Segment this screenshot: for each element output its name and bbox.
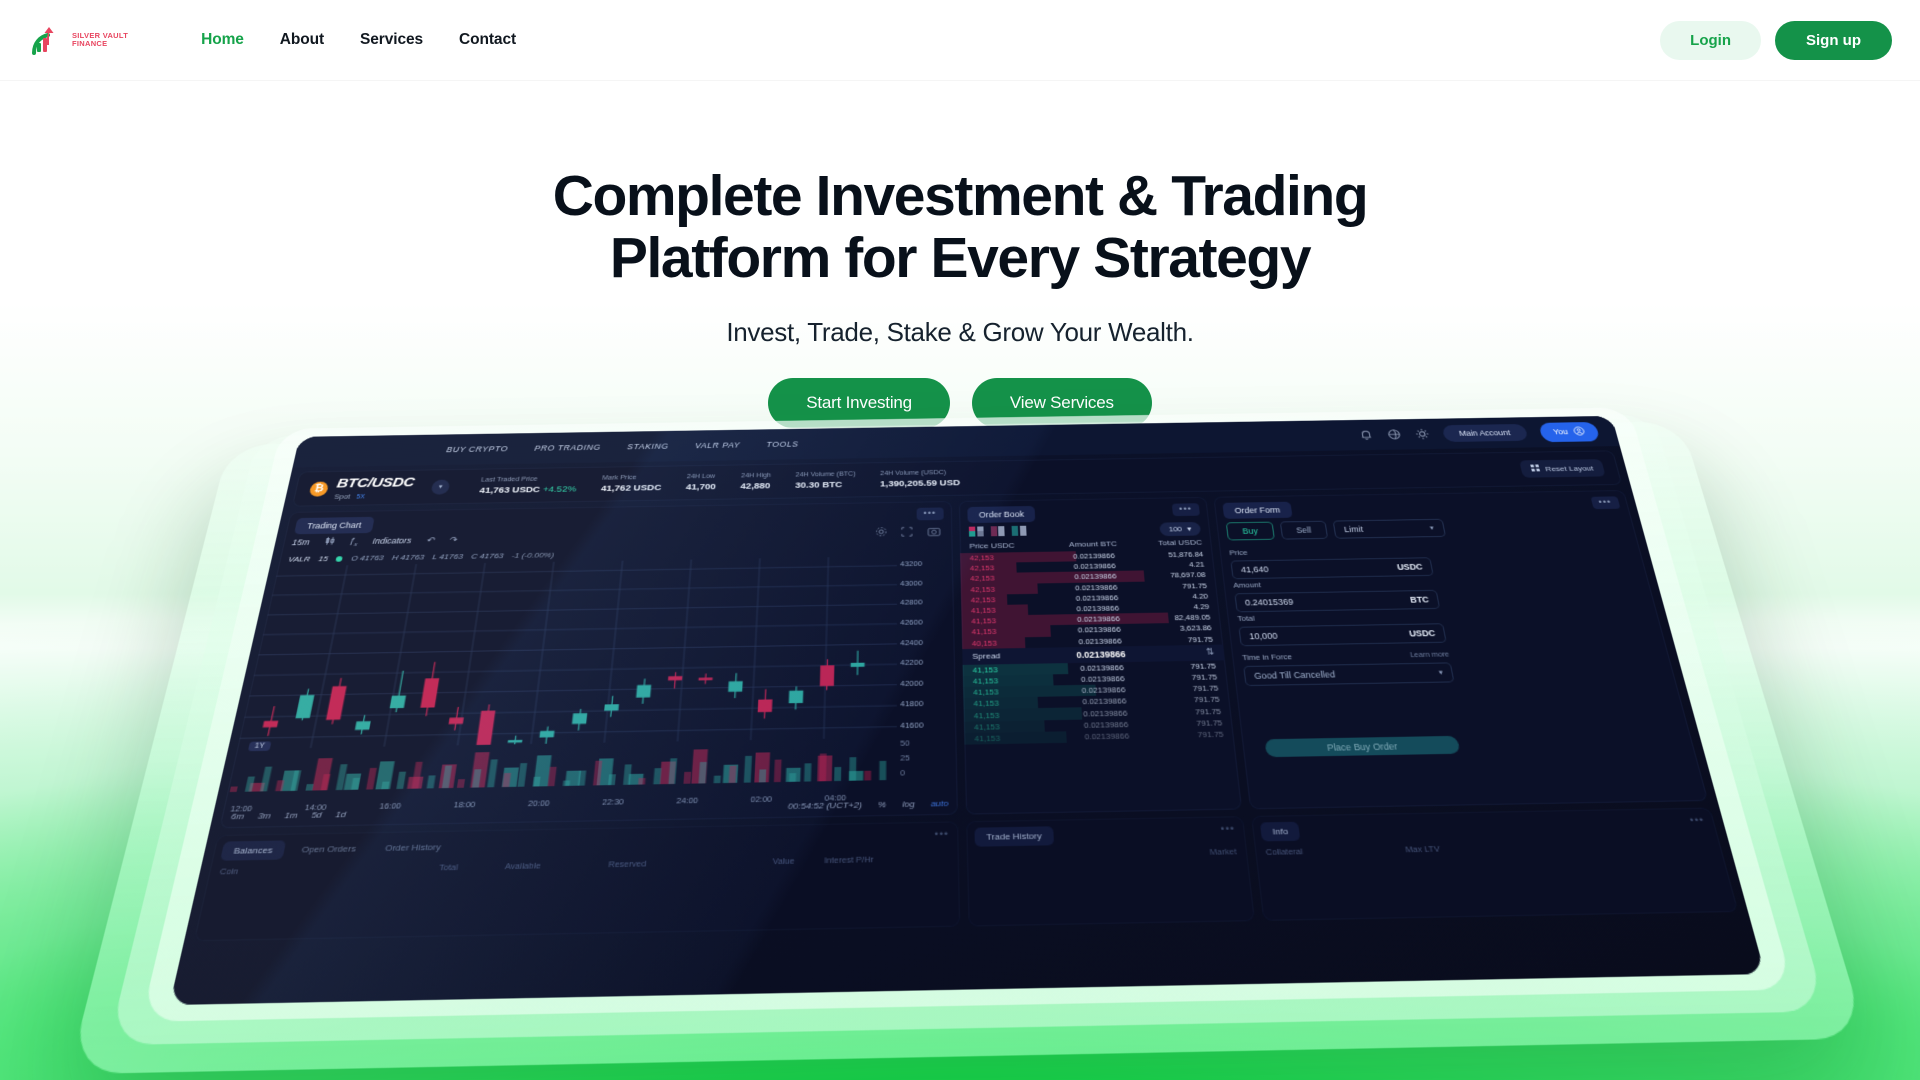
price-unit: USDC	[1396, 562, 1423, 572]
hero-section: Complete Investment & Trading Platform f…	[0, 80, 1920, 428]
main-navigation: Home About Services Contact	[183, 31, 534, 49]
ask-total: 82,489.05	[1143, 613, 1211, 623]
both-sides-view-icon[interactable]	[969, 526, 983, 536]
order-side-selector: Buy Sell Limit ▾	[1226, 519, 1446, 541]
ask-amount: 0.02139866	[1054, 636, 1146, 646]
column-reserved: Reserved	[608, 856, 773, 869]
price-tick: 43200	[900, 560, 922, 569]
bid-price: 41,153	[973, 675, 1057, 686]
chart-range-buttons: 6m 3m 1m 5d 1d	[230, 809, 347, 821]
bid-total: 791.75	[1154, 729, 1224, 740]
stat-label: 24H Low	[687, 473, 717, 480]
scale-log-toggle[interactable]: log	[902, 799, 914, 809]
stat-label: 24H Volume (USDC)	[880, 469, 960, 476]
order-book-panel: Order Book •••	[959, 497, 1242, 815]
tab-balances[interactable]: Balances	[220, 840, 286, 860]
spread-label: Spread	[972, 651, 1055, 661]
dashboard-nav-pro-trading[interactable]: PRO TRADING	[534, 443, 602, 453]
dashboard-nav-staking[interactable]: STAKING	[627, 442, 669, 451]
price-input[interactable]: 41,640 USDC	[1230, 557, 1433, 579]
stat-value: 41,762 USDC	[600, 483, 661, 494]
order-type-value: Limit	[1344, 525, 1364, 534]
candlestick-chart	[237, 556, 897, 749]
reset-layout-button[interactable]: Reset Layout	[1519, 459, 1606, 478]
grid-icon	[1530, 464, 1540, 473]
info-panel: Info ••• Collateral Max LTV	[1251, 808, 1739, 921]
tif-select[interactable]: Good Till Cancelled ▾	[1243, 662, 1454, 686]
stat-label: 24H High	[741, 472, 771, 479]
sell-tab[interactable]: Sell	[1279, 521, 1328, 540]
bid-amount: 0.02139866	[1056, 674, 1149, 685]
trade-history-market-filter[interactable]: Market	[1209, 846, 1237, 857]
order-book-rows: 42,1530.0213986651,876.8442,1530.0213986…	[960, 549, 1234, 745]
ask-amount: 0.02139866	[1054, 625, 1145, 635]
you-pill-label: You	[1552, 427, 1568, 436]
bid-price: 41,153	[973, 698, 1058, 709]
main-account-pill[interactable]: Main Account	[1441, 424, 1528, 442]
trade-history-tabs: Trade History	[974, 826, 1053, 846]
chart-timeframe-selector[interactable]: 15m	[291, 538, 310, 547]
ask-amount: 0.02139866	[1051, 572, 1141, 582]
reset-layout-label: Reset Layout	[1544, 464, 1594, 473]
asks-only-view-icon[interactable]	[990, 526, 1004, 536]
ohlc-source: VALR	[287, 555, 310, 564]
ask-total: 791.75	[1140, 581, 1207, 591]
ask-amount: 0.02139866	[1050, 562, 1139, 572]
login-button[interactable]: Login	[1660, 21, 1761, 60]
ask-total: 4.29	[1142, 602, 1209, 612]
column-amount: Amount BTC	[1049, 539, 1138, 549]
ask-price: 42,153	[970, 563, 1051, 573]
order-form-panel: Order Form ••• Buy Sell Limit ▾ Price 4	[1213, 490, 1708, 809]
ask-price: 41,153	[971, 605, 1053, 615]
fx-icon[interactable]: ƒx	[348, 536, 359, 548]
more-options-icon[interactable]: •••	[1590, 496, 1620, 509]
candlestick-icon[interactable]	[323, 537, 336, 548]
globe-icon[interactable]	[1386, 428, 1402, 440]
stat-24h-volume-usdc: 24H Volume (USDC) 1,390,205.59 USD	[880, 469, 960, 489]
total-value: 10,000	[1249, 631, 1278, 641]
stat-24h-volume-btc: 24H Volume (BTC) 30.30 BTC	[795, 471, 856, 490]
bitcoin-icon: ₿	[309, 481, 330, 496]
learn-more-link[interactable]: Learn more	[1410, 652, 1450, 660]
ohlc-close: C 41763	[471, 552, 504, 561]
bid-amount: 0.02139866	[1056, 662, 1149, 673]
stat-label: 24H Volume (BTC)	[795, 471, 855, 478]
stat-mark-price: Mark Price 41,762 USDC	[600, 474, 662, 493]
total-label: Total	[1237, 611, 1442, 623]
bid-total: 791.75	[1153, 718, 1223, 729]
scale-percent-toggle[interactable]: %	[878, 800, 886, 810]
dashboard-nav-tools[interactable]: TOOLS	[766, 440, 798, 449]
stat-24h-low: 24H Low 41,700	[686, 473, 717, 492]
stat-last-traded-price: Last Traded Price 41,763 USDC +4.52%	[479, 475, 578, 495]
fullscreen-icon[interactable]	[901, 525, 916, 538]
bid-price: 41,153	[974, 721, 1059, 732]
amount-value: 0.24015369	[1245, 597, 1294, 607]
ticker-market-type: Spot 5X	[334, 491, 413, 500]
ohlc-high: H 41763	[391, 553, 424, 562]
chevron-down-icon: ▾	[1438, 669, 1443, 677]
stat-24h-high: 24H High 42,880	[740, 472, 771, 491]
range-3m[interactable]: 3m	[257, 811, 272, 821]
ask-price: 42,153	[971, 594, 1053, 604]
ticker-pair: BTC/USDC	[336, 475, 416, 489]
dashboard-bottom-row: Balances Open Orders Order History ••• C…	[194, 808, 1739, 942]
column-max-ltv: Max LTV	[1405, 844, 1441, 855]
user-circle-icon	[1572, 426, 1586, 437]
ask-amount: 0.02139866	[1053, 614, 1144, 624]
ask-total: 791.75	[1145, 635, 1213, 645]
tab-open-orders[interactable]: Open Orders	[288, 839, 369, 860]
ask-total: 3,623.86	[1144, 624, 1212, 634]
camera-icon[interactable]	[927, 524, 942, 537]
order-book-columns: Price USDC Amount BTC Total USDC	[960, 538, 1212, 550]
bid-price: 41,153	[973, 686, 1057, 697]
buy-tab[interactable]: Buy	[1226, 522, 1275, 541]
order-type-select[interactable]: Limit ▾	[1332, 519, 1445, 539]
hero-subheading: Invest, Trade, Stake & Grow Your Wealth.	[0, 317, 1920, 348]
brand-line-2: FINANCE	[72, 40, 128, 48]
tif-value: Good Till Cancelled	[1254, 669, 1336, 680]
bid-price: 41,153	[974, 732, 1060, 743]
price-label: Price	[1229, 545, 1430, 557]
ticker-stats: Last Traded Price 41,763 USDC +4.52% Mar…	[479, 469, 960, 495]
hero-device-mockup: BUY CRYPTO PRO TRADING STAKING VALR PAY …	[151, 407, 1783, 999]
chart-toolbar-right	[875, 524, 942, 538]
bid-total: 791.75	[1149, 684, 1218, 694]
page-title: Complete Investment & Trading Platform f…	[0, 165, 1920, 289]
dashboard-nav-buy-crypto[interactable]: BUY CRYPTO	[446, 444, 509, 453]
dashboard-nav-items: BUY CRYPTO PRO TRADING STAKING VALR PAY …	[446, 440, 799, 454]
price-tick: 42800	[900, 598, 922, 607]
more-options-icon[interactable]: •••	[1688, 814, 1705, 825]
chevron-down-icon[interactable]: ▾	[431, 479, 451, 494]
ask-price: 42,153	[970, 584, 1051, 594]
order-book-tab[interactable]: Order Book	[967, 506, 1035, 523]
total-input[interactable]: 10,000 USDC	[1238, 623, 1446, 646]
ask-price: 41,153	[972, 626, 1055, 636]
chart-bottom-toolbar: 6m 3m 1m 5d 1d 00:54:52 (UCT+2) % log au…	[230, 798, 949, 821]
site-header: SILVER VAULT FINANCE Home About Services…	[0, 0, 1920, 80]
column-total: Total	[438, 861, 505, 872]
total-unit: USDC	[1408, 628, 1436, 638]
ask-amount: 0.02139866	[1052, 593, 1142, 603]
order-book-view-modes	[969, 526, 1026, 537]
place-buy-order-button[interactable]: Place Buy Order	[1264, 736, 1460, 757]
chart-indicators-button[interactable]: Indicators	[372, 536, 412, 546]
gear-icon[interactable]	[875, 525, 890, 538]
info-columns: Collateral Max LTV	[1265, 839, 1713, 857]
amount-label: Amount	[1233, 578, 1436, 590]
hero-heading-line-2: Platform for Every Strategy	[610, 226, 1310, 290]
price-tick: 41600	[900, 720, 923, 730]
price-tick: 42400	[900, 638, 923, 647]
brand-wordmark: SILVER VAULT FINANCE	[72, 32, 128, 48]
stat-value: 1,390,205.59 USD	[880, 478, 960, 489]
undo-icon[interactable]: ↶	[425, 535, 435, 545]
range-1m[interactable]: 1m	[284, 810, 299, 820]
price-tick: 41800	[900, 699, 923, 709]
ask-amount: 0.02139866	[1049, 551, 1138, 561]
ask-price: 41,153	[971, 616, 1053, 626]
stat-value: 41,763 USDC +4.52%	[479, 484, 577, 495]
range-1d[interactable]: 1d	[335, 809, 347, 819]
bid-amount: 0.02139866	[1058, 696, 1152, 707]
info-tabs: Info	[1260, 822, 1301, 842]
stat-number: 41,763 USDC	[479, 485, 541, 496]
column-total: Total USDC	[1137, 538, 1203, 547]
stat-change: +4.52%	[542, 484, 577, 494]
trading-chart-tab[interactable]: Trading Chart	[294, 517, 374, 534]
bids-only-view-icon[interactable]	[1012, 526, 1027, 536]
chevron-down-icon: ▾	[1429, 524, 1434, 531]
sun-icon[interactable]	[1414, 428, 1430, 440]
ask-total: 4.21	[1139, 560, 1205, 569]
amount-field-group: Amount 0.24015369 BTC	[1233, 578, 1440, 613]
chart-toolbar: 15m ƒx Indicators ↶ ↷	[291, 534, 458, 548]
tab-info[interactable]: Info	[1260, 822, 1301, 842]
bell-icon[interactable]	[1358, 429, 1374, 441]
ohlc-change: -1 (-0.00%)	[511, 551, 554, 560]
price-value: 41,640	[1240, 565, 1269, 575]
ask-price: 42,153	[970, 553, 1050, 563]
ask-amount: 0.02139866	[1052, 603, 1143, 613]
price-field-group: Price 41,640 USDC	[1229, 545, 1434, 579]
header-actions: Login Sign up	[1660, 21, 1892, 60]
tif-label: Time in Force	[1242, 652, 1293, 662]
bid-amount: 0.02139866	[1059, 731, 1154, 742]
tab-trade-history[interactable]: Trade History	[974, 826, 1053, 846]
ohlc-open: O 41763	[350, 554, 384, 563]
trading-dashboard: BUY CRYPTO PRO TRADING STAKING VALR PAY …	[169, 416, 1765, 1005]
price-tick: 42000	[900, 678, 923, 687]
trading-chart-panel: Trading Chart ••• 15m ƒx Indicators ↶ ↷	[219, 501, 958, 828]
more-options-icon[interactable]: •••	[935, 828, 950, 839]
ask-amount: 0.02139866	[1051, 582, 1141, 592]
balances-panel: Balances Open Orders Order History ••• C…	[194, 821, 961, 941]
status-dot-icon	[336, 556, 343, 562]
ask-price: 42,153	[970, 573, 1051, 583]
time-in-force-group: Time in Force Learn more Good Till Cance…	[1242, 650, 1455, 687]
ask-total: 4.20	[1141, 592, 1208, 602]
more-options-icon[interactable]: •••	[1171, 503, 1200, 516]
ask-price: 40,153	[972, 637, 1055, 647]
bid-price: 41,153	[974, 709, 1059, 720]
bid-price: 41,153	[972, 664, 1056, 674]
tif-header: Time in Force Learn more	[1242, 650, 1450, 662]
range-5d[interactable]: 5d	[310, 810, 322, 820]
column-interest: Interest P/Hr	[824, 854, 873, 865]
stat-value: 41,700	[686, 482, 717, 492]
spread-value: 0.02139866	[1055, 649, 1147, 660]
price-tick: 42600	[900, 618, 923, 627]
bid-amount: 0.02139866	[1057, 685, 1150, 696]
stat-value: 30.30 BTC	[795, 479, 856, 490]
signup-button[interactable]: Sign up	[1775, 21, 1892, 60]
brand-logo[interactable]: SILVER VAULT FINANCE	[30, 23, 128, 57]
tab-order-history[interactable]: Order History	[372, 837, 454, 858]
trade-history-panel: Trade History ••• Market	[966, 816, 1255, 926]
chart-scale-controls: 00:54:52 (UCT+2) % log auto	[788, 798, 949, 811]
chart-price-axis: 4320043000428004260042400422004200041800…	[893, 553, 952, 783]
more-options-icon[interactable]: •••	[1220, 823, 1236, 834]
column-coin[interactable]: Coin	[219, 862, 440, 876]
stat-value: 42,880	[740, 481, 770, 491]
nav-item-home[interactable]: Home	[183, 31, 262, 49]
device-screen: BUY CRYPTO PRO TRADING STAKING VALR PAY …	[169, 416, 1765, 1005]
ask-total: 51,876.84	[1138, 550, 1204, 559]
bid-total: 791.75	[1151, 706, 1221, 716]
collapse-icon[interactable]: ⇅	[1146, 647, 1215, 659]
dashboard-nav-valr-pay[interactable]: VALR PAY	[695, 441, 741, 450]
ohlc-low: L 41763	[432, 552, 464, 561]
stat-label: Mark Price	[602, 474, 663, 481]
amount-unit: BTC	[1409, 595, 1429, 605]
chart-clock: 00:54:52 (UCT+2)	[788, 800, 862, 811]
redo-icon[interactable]: ↷	[448, 535, 458, 545]
ohlc-interval: 15	[318, 555, 329, 563]
ticker-leverage-badge: 5X	[356, 494, 365, 500]
column-value: Value	[772, 855, 824, 866]
ask-total: 78,697.08	[1140, 571, 1207, 581]
chart-range-badge[interactable]: 1Y	[248, 741, 271, 751]
order-form-tab[interactable]: Order Form	[1222, 502, 1292, 519]
column-collateral: Collateral	[1265, 844, 1406, 857]
bid-total: 791.75	[1150, 695, 1220, 705]
bid-amount: 0.02139866	[1059, 719, 1153, 730]
column-available: Available	[504, 859, 609, 871]
nav-item-contact[interactable]: Contact	[441, 31, 534, 49]
depth-count-value: 100	[1168, 525, 1182, 533]
ticker-spot-label: Spot	[334, 492, 352, 500]
amount-input[interactable]: 0.24015369 BTC	[1234, 590, 1440, 612]
volume-tick: 50	[900, 738, 909, 748]
more-options-icon[interactable]: •••	[916, 507, 944, 520]
dashboard-nav-right: Main Account You	[1357, 422, 1600, 445]
price-tick: 43000	[900, 579, 922, 588]
bar-chart-arrow-icon	[30, 23, 64, 57]
dashboard-panels-row: Trading Chart ••• 15m ƒx Indicators ↶ ↷	[219, 490, 1708, 828]
hero-heading-line-1: Complete Investment & Trading	[553, 164, 1368, 228]
balances-tabs: Balances Open Orders Order History	[220, 837, 454, 860]
bid-amount: 0.02139866	[1058, 708, 1152, 719]
scale-auto-toggle[interactable]: auto	[931, 798, 949, 808]
stat-label: Last Traded Price	[481, 475, 578, 483]
nav-item-services[interactable]: Services	[342, 31, 441, 49]
volume-tick: 25	[900, 753, 909, 763]
price-tick: 42200	[900, 658, 923, 667]
bid-total: 791.75	[1148, 661, 1217, 671]
order-book-depth-select[interactable]: 100 ▾	[1159, 522, 1201, 536]
total-field-group: Total 10,000 USDC	[1237, 611, 1447, 647]
chevron-down-icon: ▾	[1187, 525, 1192, 533]
ticker-symbol[interactable]: ₿ BTC/USDC Spot 5X ▾	[308, 475, 452, 501]
column-price: Price USDC	[969, 541, 1049, 551]
nav-item-about[interactable]: About	[262, 31, 342, 49]
you-account-pill[interactable]: You	[1538, 422, 1600, 442]
bid-total: 791.75	[1149, 672, 1218, 682]
range-6m[interactable]: 6m	[230, 811, 245, 821]
volume-tick: 0	[900, 768, 905, 778]
